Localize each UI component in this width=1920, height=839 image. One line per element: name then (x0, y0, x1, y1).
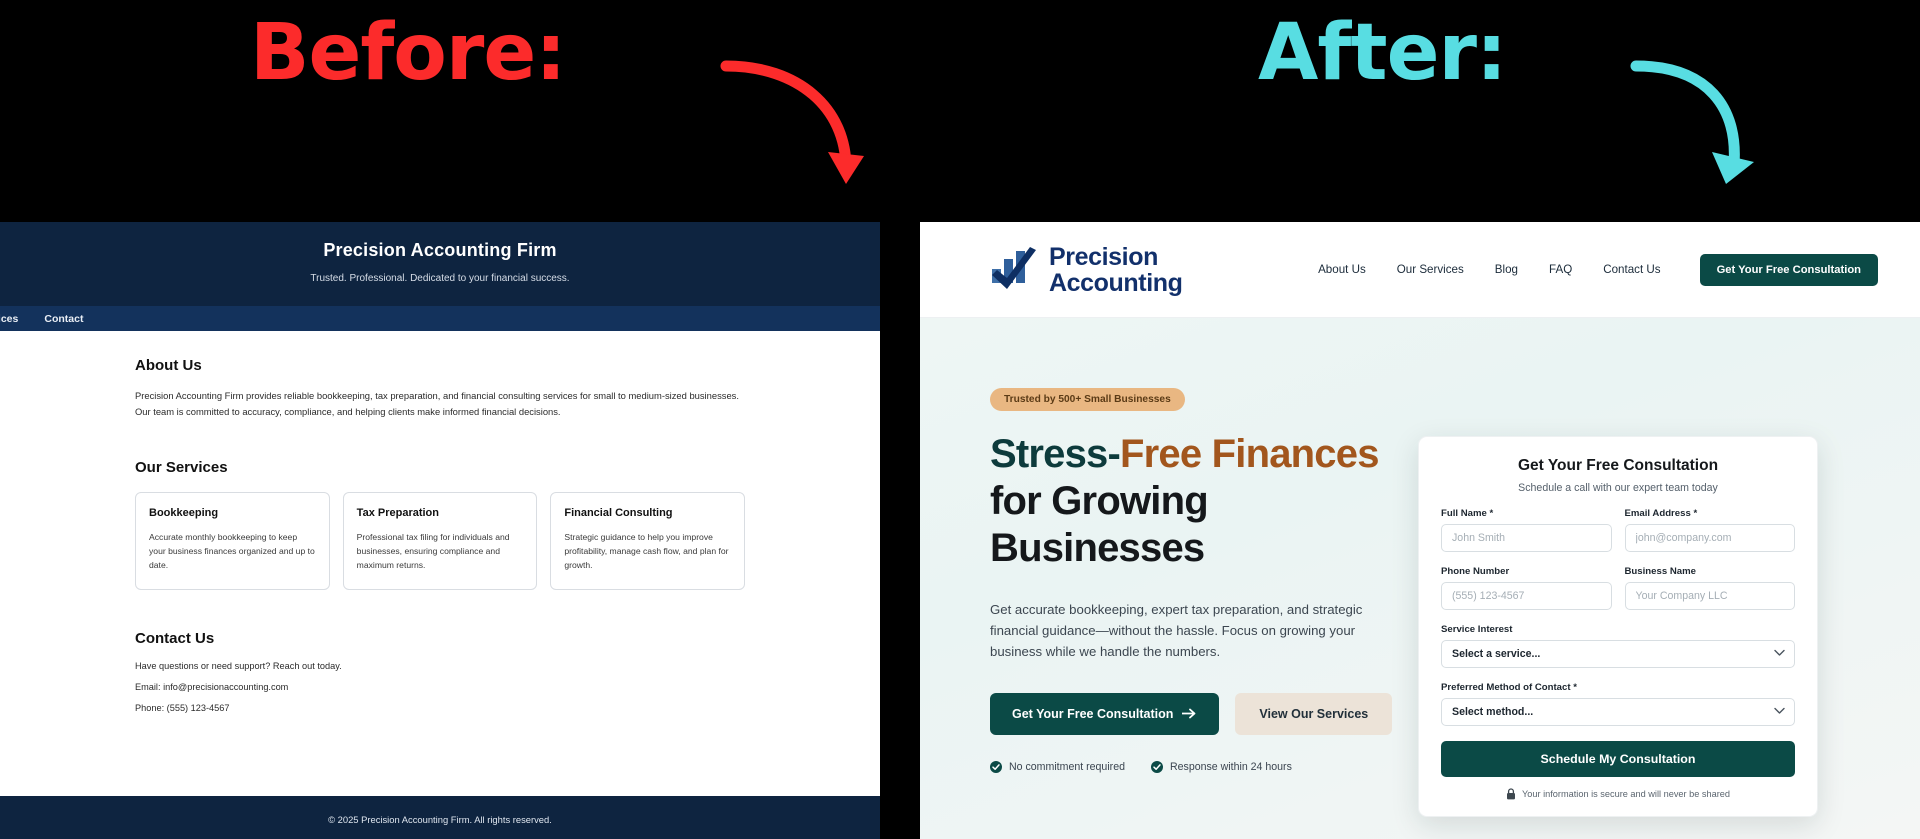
after-hero-buttons: Get Your Free Consultation View Our Serv… (990, 693, 1420, 735)
before-hero: Precision Accounting Firm Trusted. Profe… (0, 222, 880, 306)
after-trust-text: No commitment required (1009, 761, 1125, 773)
before-contact-intro: Have questions or need support? Reach ou… (135, 661, 745, 671)
form-row: Preferred Method of Contact * Select met… (1441, 682, 1795, 726)
arrow-right-icon (1182, 708, 1197, 719)
business-name-input[interactable] (1625, 582, 1796, 610)
full-name-input[interactable] (1441, 524, 1612, 552)
before-about-heading: About Us (135, 357, 745, 374)
form-title: Get Your Free Consultation (1441, 457, 1795, 475)
after-nav-about-us[interactable]: About Us (1318, 263, 1366, 276)
after-nav-contact-us[interactable]: Contact Us (1603, 263, 1660, 276)
before-service-card: Bookkeeping Accurate monthly bookkeeping… (135, 492, 330, 590)
bar-chart-checkmark-logo-icon (990, 247, 1040, 293)
before-contact-phone: Phone: (555) 123-4567 (135, 703, 745, 713)
phone-field: Phone Number (1441, 566, 1612, 610)
after-hero-subtext: Get accurate bookkeeping, expert tax pre… (990, 599, 1390, 663)
before-service-title: Bookkeeping (149, 507, 316, 519)
cyan-curved-arrow-icon (1630, 52, 1790, 212)
after-logo-line1: Precision (1049, 244, 1183, 270)
lock-icon (1506, 788, 1516, 800)
check-circle-icon (990, 761, 1002, 773)
after-nav-faq[interactable]: FAQ (1549, 263, 1572, 276)
before-services-heading: Our Services (135, 459, 745, 476)
before-navbar[interactable]: rvices Contact (0, 306, 880, 331)
before-service-title: Financial Consulting (564, 507, 731, 519)
after-trust-text: Response within 24 hours (1170, 761, 1292, 773)
form-subtitle: Schedule a call with our expert team tod… (1441, 482, 1795, 494)
after-navbar: Precision Accounting About Us Our Servic… (920, 222, 1920, 318)
before-service-card: Financial Consulting Strategic guidance … (550, 492, 745, 590)
after-hero-headline: Stress-Free Finances for Growing Busines… (990, 431, 1420, 573)
form-row: Full Name * Email Address * (1441, 508, 1795, 552)
after-logo[interactable]: Precision Accounting (990, 244, 1183, 296)
red-curved-arrow-icon (720, 52, 880, 212)
phone-input[interactable] (1441, 582, 1612, 610)
after-hero: Trusted by 500+ Small Businesses Stress-… (920, 318, 1920, 839)
after-nav-our-services[interactable]: Our Services (1397, 263, 1464, 276)
security-note: Your information is secure and will neve… (1441, 788, 1795, 800)
before-label: Before: (250, 14, 565, 92)
after-logo-line2: Accounting (1049, 270, 1183, 296)
after-headline-part3: for Growing (990, 478, 1420, 525)
form-row: Service Interest Select a service... (1441, 624, 1795, 668)
before-contact-heading: Contact Us (135, 630, 745, 647)
after-hero-left: Trusted by 500+ Small Businesses Stress-… (990, 366, 1420, 839)
business-name-field: Business Name (1625, 566, 1796, 610)
form-row: Phone Number Business Name (1441, 566, 1795, 610)
after-hero-primary-label: Get Your Free Consultation (1012, 707, 1173, 721)
consultation-form-card: Get Your Free Consultation Schedule a ca… (1418, 436, 1818, 817)
before-contact-email: Email: info@precisionaccounting.com (135, 682, 745, 692)
after-headline-part2: Free Finances (1120, 432, 1379, 476)
before-footer: © 2025 Precision Accounting Firm. All ri… (0, 796, 880, 839)
before-about-body: Precision Accounting Firm provides relia… (135, 388, 745, 419)
after-website-screenshot: Precision Accounting About Us Our Servic… (920, 222, 1920, 839)
after-hero-primary-button[interactable]: Get Your Free Consultation (990, 693, 1219, 735)
after-trust-item: Response within 24 hours (1151, 761, 1292, 773)
before-website-screenshot: Precision Accounting Firm Trusted. Profe… (0, 222, 880, 839)
before-service-body: Professional tax filing for individuals … (357, 530, 524, 573)
after-logo-text: Precision Accounting (1049, 244, 1183, 296)
schedule-consultation-button[interactable]: Schedule My Consultation (1441, 741, 1795, 777)
service-interest-label: Service Interest (1441, 624, 1795, 635)
before-services-cards: Bookkeeping Accurate monthly bookkeeping… (135, 492, 745, 590)
full-name-field: Full Name * (1441, 508, 1612, 552)
preferred-contact-select[interactable]: Select method... (1441, 698, 1795, 726)
before-nav-item-services[interactable]: rvices (0, 313, 18, 325)
after-hero-badge: Trusted by 500+ Small Businesses (990, 388, 1185, 411)
check-circle-icon (1151, 761, 1163, 773)
security-note-text: Your information is secure and will neve… (1522, 789, 1730, 799)
email-field: Email Address * (1625, 508, 1796, 552)
business-name-label: Business Name (1625, 566, 1796, 577)
before-service-title: Tax Preparation (357, 507, 524, 519)
service-interest-field: Service Interest Select a service... (1441, 624, 1795, 668)
service-interest-select[interactable]: Select a service... (1441, 640, 1795, 668)
before-site-title: Precision Accounting Firm (0, 240, 880, 261)
after-hero-secondary-button[interactable]: View Our Services (1235, 693, 1392, 735)
after-headline-part4: Businesses (990, 525, 1420, 572)
after-nav-blog[interactable]: Blog (1495, 263, 1518, 276)
before-nav-item-contact[interactable]: Contact (44, 313, 83, 325)
after-trust-item: No commitment required (990, 761, 1125, 773)
before-service-body: Strategic guidance to help you improve p… (564, 530, 731, 573)
before-content: About Us Precision Accounting Firm provi… (0, 331, 880, 713)
before-site-tagline: Trusted. Professional. Dedicated to your… (0, 273, 880, 284)
full-name-label: Full Name * (1441, 508, 1612, 519)
email-input[interactable] (1625, 524, 1796, 552)
after-hero-trust-row: No commitment required Response within 2… (990, 761, 1420, 773)
after-headline-part1: Stress- (990, 432, 1120, 476)
email-label: Email Address * (1625, 508, 1796, 519)
preferred-contact-field: Preferred Method of Contact * Select met… (1441, 682, 1795, 726)
comparison-graphic: Before: After: Precision Accounting Firm… (0, 0, 1920, 839)
after-nav-cta-button[interactable]: Get Your Free Consultation (1700, 254, 1878, 286)
preferred-contact-label: Preferred Method of Contact * (1441, 682, 1795, 693)
before-service-body: Accurate monthly bookkeeping to keep you… (149, 530, 316, 573)
before-service-card: Tax Preparation Professional tax filing … (343, 492, 538, 590)
after-nav-links: About Us Our Services Blog FAQ Contact U… (1318, 254, 1878, 286)
after-label: After: (1258, 14, 1506, 92)
phone-label: Phone Number (1441, 566, 1612, 577)
